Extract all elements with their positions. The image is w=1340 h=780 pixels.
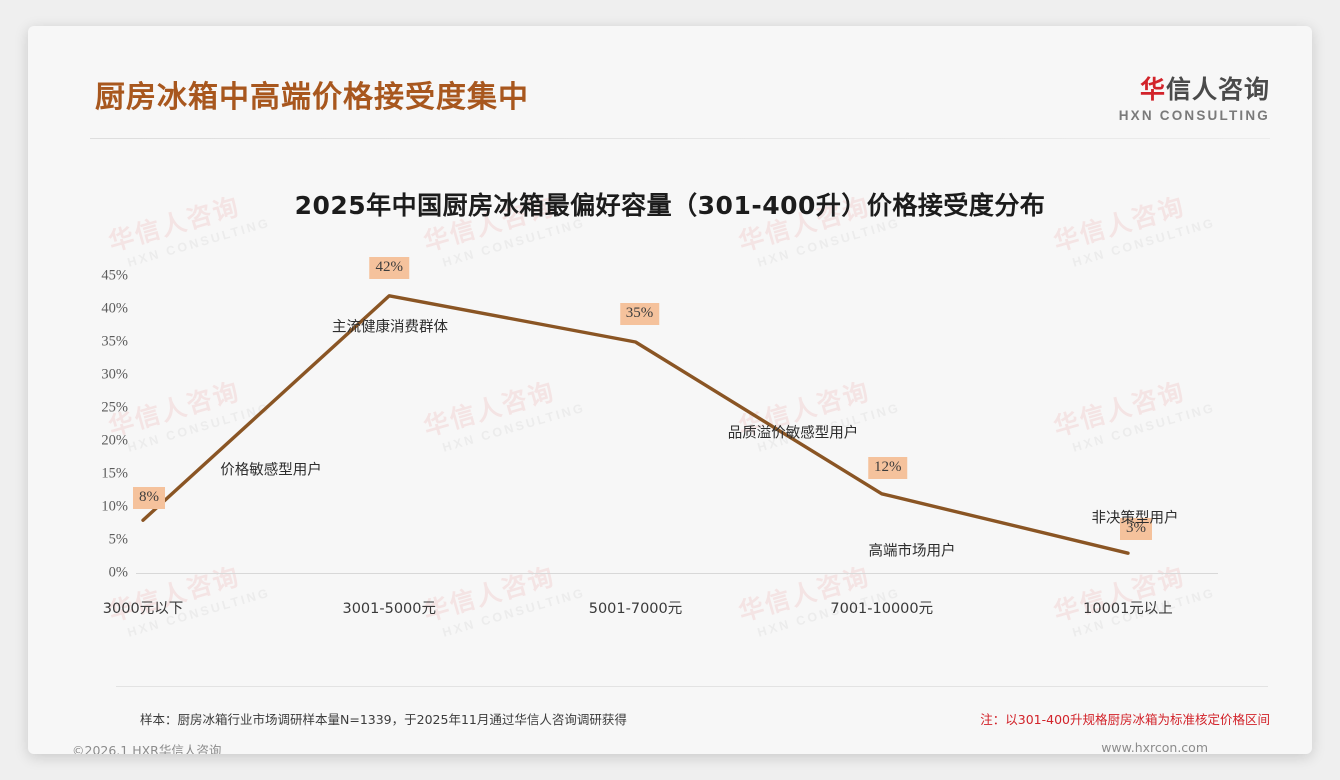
data-point-label: 42% <box>370 257 410 279</box>
slide-header: 厨房冰箱中高端价格接受度集中 华信人咨询 HXN CONSULTING <box>28 26 1312 122</box>
chart-plot-area: 45%40%35%30%25%20%15%10%5%0%3000元以下3001-… <box>28 26 1312 754</box>
series-annotation: 品质溢价敏感型用户 <box>728 422 859 443</box>
footer-divider <box>116 686 1268 687</box>
slide-card: 华信人咨询HXN CONSULTING华信人咨询HXN CONSULTING华信… <box>28 26 1312 754</box>
bottom-bar: ©2026.1 HXR华信人咨询 www.hxrcon.com <box>28 726 1312 754</box>
header-divider <box>90 138 1270 139</box>
data-point-label: 35% <box>620 303 660 325</box>
series-annotation: 非决策型用户 <box>1092 507 1179 528</box>
logo-chinese: 华信人咨询 <box>1119 70 1270 106</box>
data-point-label: 8% <box>133 487 165 509</box>
series-annotation: 高端市场用户 <box>869 540 956 561</box>
logo-accent-char: 华 <box>1140 75 1166 104</box>
brand-logo: 华信人咨询 HXN CONSULTING <box>1119 70 1270 123</box>
page-title: 厨房冰箱中高端价格接受度集中 <box>95 72 529 116</box>
data-point-label: 12% <box>868 457 908 479</box>
logo-english: HXN CONSULTING <box>1119 108 1270 123</box>
chart-title: 2025年中国厨房冰箱最偏好容量（301-400升）价格接受度分布 <box>28 186 1312 222</box>
logo-rest-chars: 信人咨询 <box>1166 75 1270 104</box>
series-annotation: 价格敏感型用户 <box>220 459 322 480</box>
copyright-text: ©2026.1 HXR华信人咨询 <box>72 740 221 754</box>
website-link[interactable]: www.hxrcon.com <box>1101 740 1208 754</box>
line-series <box>28 26 1312 754</box>
series-annotation: 主流健康消费群体 <box>332 316 448 337</box>
